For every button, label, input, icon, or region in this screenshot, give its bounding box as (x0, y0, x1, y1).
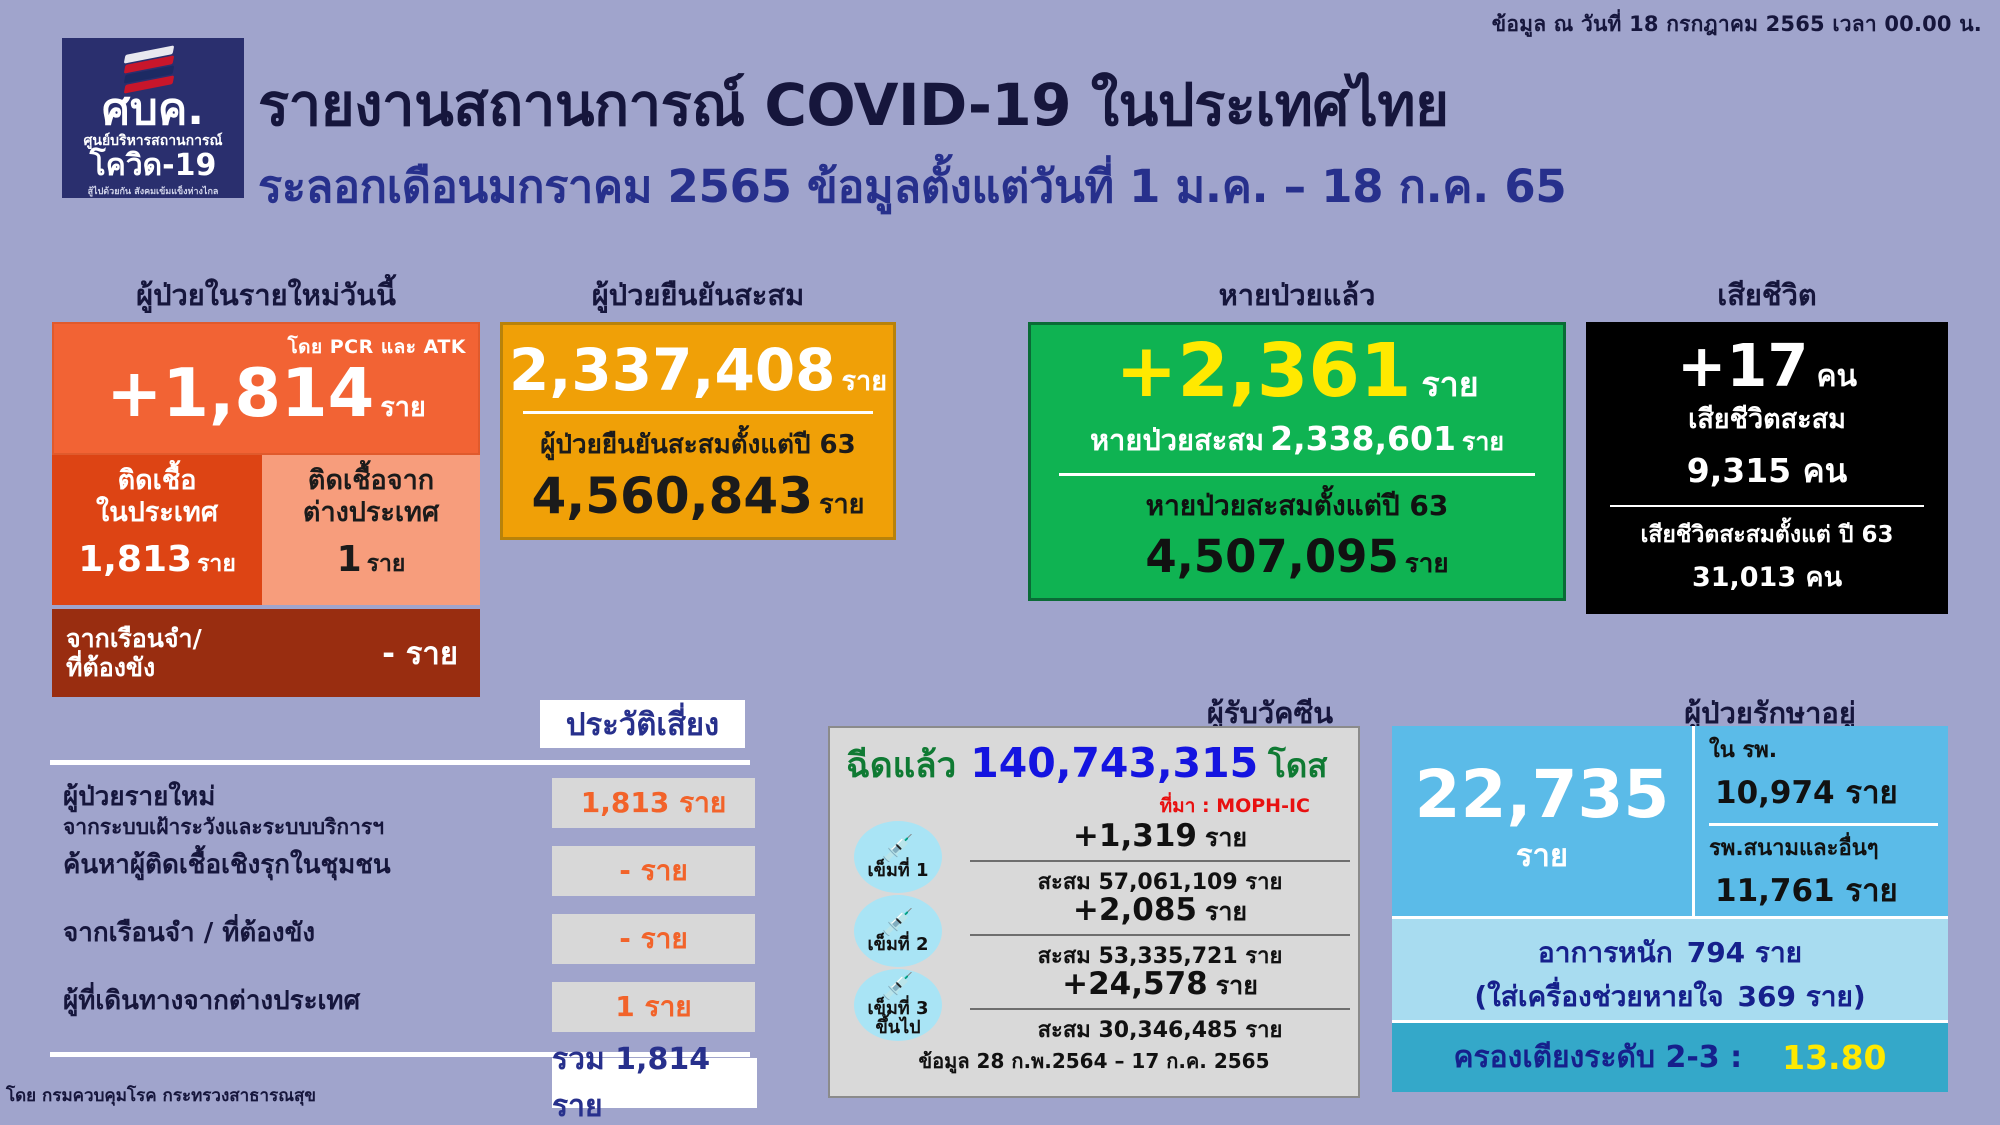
cdc-logo: ศบค. ศูนย์บริหารสถานการณ์ โควิด-19 สู้ไป… (62, 38, 244, 198)
vaccine-dose-2-divider (970, 934, 1350, 936)
risk-row-3-label-1: ผู้ที่เดินทางจากต่างประเทศ (63, 988, 360, 1015)
risk-history-total: รวม 1,814 ราย (552, 1058, 757, 1108)
vaccine-dose-1-new: +1,319 (1073, 818, 1197, 854)
page-title: รายงานสถานการณ์ COVID-19 ในประเทศไทย (258, 58, 1449, 151)
page-subtitle: ระลอกเดือนมกราคม 2565 ข้อมูลตั้งแต่วันที… (258, 150, 1566, 222)
risk-row-3-value: 1 ราย (552, 982, 755, 1032)
deaths-cumulative-value: 9,315 คน (1588, 440, 1946, 503)
treatment-bed-value: 13.80 (1782, 1038, 1886, 1077)
vaccine-dose-1-data: +1,319ราย สะสม 57,061,109 ราย (956, 818, 1358, 899)
risk-history-title: ประวัติเสี่ยง (540, 700, 745, 748)
footer-credit: โดย กรมควบคุมโรค กระทรวงสาธารณสุข (6, 1082, 316, 1109)
treatment-total-value: 22,735 (1415, 762, 1670, 828)
risk-history-top-divider (50, 760, 750, 765)
new-cases-split: ติดเชื้อ ในประเทศ 1,813ราย ติดเชื้อจาก ต… (52, 455, 480, 605)
vaccine-dose-3-new-unit: ราย (1216, 971, 1258, 1000)
risk-row-0-label-2: จากระบบเฝ้าระวังและระบบบริการฯ (63, 811, 384, 844)
syringe-icon: 💉 เข็มที่ 3 ขึ้นไป (840, 971, 956, 1041)
vaccine-dose-2-label: เข็มที่ 2 (868, 936, 929, 955)
risk-row-2-label: จากเรือนจำ / ที่ต้องขัง (63, 920, 315, 947)
treatment-severe-label: อาการหนัก (1538, 931, 1673, 975)
cumulative-since-unit: ราย (819, 489, 864, 520)
recovered-unit: ราย (1421, 365, 1478, 405)
vaccine-dose-2-data: +2,085ราย สะสม 53,335,721 ราย (956, 892, 1358, 973)
vaccine-dose-row-3: 💉 เข็มที่ 3 ขึ้นไป +24,578ราย สะสม 30,34… (830, 969, 1358, 1043)
logo-subtitle-2: โควิด-19 (90, 150, 217, 182)
deaths-value: +17 (1677, 331, 1809, 400)
vaccine-injected-word: ฉีดแล้ว (846, 738, 956, 793)
treatment-field-value: 11,761 ราย (1715, 865, 1938, 915)
syringe-icon-glyph: 💉 (882, 836, 914, 862)
risk-row-1-label: ค้นหาผู้ติดเชื้อเชิงรุกในชุมชน (63, 852, 391, 879)
recovered-cumulative-value: 2,338,601 (1270, 419, 1456, 458)
treatment-vent-value: 369 ราย) (1738, 975, 1866, 1019)
vaccine-card: ฉีดแล้ว 140,743,315 โดส ที่มา : MOPH-IC … (828, 726, 1360, 1098)
vaccine-head: ฉีดแล้ว 140,743,315 โดส (830, 728, 1358, 793)
treatment-vent-row: (ใส่เครื่องช่วยหายใจ 369 ราย) (1392, 975, 1948, 1019)
prison-cases-label-2: ที่ต้องขัง (66, 653, 202, 683)
treatment-card: 22,735 ราย ใน รพ. 10,974 ราย รพ.สนามและอ… (1392, 726, 1948, 1098)
risk-row-3: ผู้ที่เดินทางจากต่างประเทศ 1 ราย (55, 982, 755, 1040)
recovered-divider (1059, 473, 1535, 476)
prison-cases: จากเรือนจำ/ ที่ต้องขัง - ราย (52, 609, 480, 697)
treatment-severe-value: 794 ราย (1687, 931, 1802, 975)
domestic-cases-value: 1,813 (78, 539, 192, 580)
deaths-since-value: 31,013 คน (1588, 553, 1946, 612)
as-of-date: ข้อมูล ณ วันที่ 18 กรกฎาคม 2565 เวลา 00.… (1492, 8, 1982, 41)
imported-cases-unit: ราย (367, 551, 406, 577)
logo-subtitle-3: สู้ไปด้วยกัน สังคมเข้มแข็งห่างไกล (88, 184, 219, 198)
treatment-total-block: 22,735 ราย (1392, 726, 1692, 916)
treatment-severe-block: อาการหนัก 794 ราย (ใส่เครื่องช่วยหายใจ 3… (1392, 916, 1948, 1020)
syringe-icon: 💉 เข็มที่ 1 (840, 823, 956, 893)
treatment-hospital-value: 10,974 ราย (1715, 767, 1938, 817)
recovered-since-wrap: 4,507,095ราย (1031, 528, 1563, 598)
vaccine-dose-3-divider (970, 1008, 1350, 1010)
domestic-cases-label-2: ในประเทศ (52, 497, 262, 529)
treatment-severe-row: อาการหนัก 794 ราย (1392, 931, 1948, 975)
recovered-since-label: หายป่วยสะสมตั้งแต่ปี 63 (1031, 478, 1563, 528)
risk-row-2: จากเรือนจำ / ที่ต้องขัง - ราย (55, 914, 755, 972)
deaths-label: เสียชีวิต (1586, 272, 1948, 318)
treatment-bed-label: ครองเตียงระดับ 2-3 : (1453, 1034, 1742, 1081)
vaccine-dose-2-new-unit: ราย (1205, 897, 1247, 926)
treatment-top: 22,735 ราย ใน รพ. 10,974 ราย รพ.สนามและอ… (1392, 726, 1948, 916)
risk-row-1-value: - ราย (552, 846, 755, 896)
cumulative-since-label: ผู้ป่วยยืนยันสะสมตั้งแต่ปี 63 (503, 414, 893, 465)
domestic-cases-value-wrap: 1,813ราย (52, 539, 262, 582)
new-cases-card: โดย PCR และ ATK +1,814ราย ติดเชื้อ ในประ… (52, 322, 480, 697)
risk-row-0-value: 1,813 ราย (552, 778, 755, 828)
domestic-cases-label-1: ติดเชื้อ (52, 465, 262, 497)
syringe-icon: 💉 เข็มที่ 2 (840, 897, 956, 967)
vaccine-note: ข้อมูล 28 ก.พ.2564 – 17 ก.ค. 2565 (830, 1045, 1358, 1077)
vaccine-dose-3-label-2: ขึ้นไป (875, 1019, 920, 1038)
vaccine-dose-3-data: +24,578ราย สะสม 30,346,485 ราย (956, 966, 1358, 1047)
imported-cases: ติดเชื้อจาก ต่างประเทศ 1ราย (262, 455, 480, 605)
prison-cases-label-1: จากเรือนจำ/ (66, 624, 202, 654)
treatment-breakdown: ใน รพ. 10,974 ราย รพ.สนามและอื่นๆ 11,761… (1692, 726, 1948, 916)
vaccine-dose-2-new: +2,085 (1073, 892, 1197, 928)
vaccine-injected-value: 140,743,315 (970, 739, 1258, 787)
treatment-vent-label: (ใส่เครื่องช่วยหายใจ (1474, 975, 1723, 1019)
deaths-unit: คน (1816, 359, 1857, 394)
new-cases-hero: โดย PCR และ ATK +1,814ราย (52, 322, 480, 455)
deaths-cumulative-label: เสียชีวิตสะสม (1588, 395, 1946, 440)
risk-row-0: ผู้ป่วยรายใหม่ จากระบบเฝ้าระวังและระบบบร… (55, 778, 755, 836)
vaccine-source: ที่มา : MOPH-IC (830, 791, 1358, 821)
prison-cases-value: - ราย (382, 628, 458, 678)
treatment-breakdown-divider (1709, 823, 1938, 826)
cumulative-since-value: 4,560,843 (531, 467, 813, 525)
risk-row-0-label: ผู้ป่วยรายใหม่ จากระบบเฝ้าระวังและระบบบร… (63, 784, 384, 844)
new-cases-value: +1,814 (106, 354, 374, 432)
cumulative-card: 2,337,408ราย ผู้ป่วยยืนยันสะสมตั้งแต่ปี … (500, 322, 896, 540)
imported-cases-label-2: ต่างประเทศ (262, 497, 480, 529)
risk-row-0-label-1: ผู้ป่วยรายใหม่ (63, 784, 384, 811)
treatment-total-unit: ราย (1516, 830, 1568, 880)
logo-abbreviation: ศบค. (102, 88, 204, 132)
vaccine-dose-1-divider (970, 860, 1350, 862)
risk-row-1-label-1: ค้นหาผู้ติดเชื้อเชิงรุกในชุมชน (63, 852, 391, 879)
vaccine-dose-3-cumulative: สะสม 30,346,485 ราย (962, 1012, 1358, 1047)
imported-cases-value: 1 (337, 539, 362, 580)
vaccine-dose-row-1: 💉 เข็มที่ 1 +1,319ราย สะสม 57,061,109 รา… (830, 821, 1358, 895)
recovered-card: +2,361ราย หายป่วยสะสม2,338,601ราย หายป่ว… (1028, 322, 1566, 601)
risk-row-2-label-1: จากเรือนจำ / ที่ต้องขัง (63, 920, 315, 947)
recovered-cumulative-unit: ราย (1462, 427, 1504, 456)
vaccine-dose-2-new-wrap: +2,085ราย (962, 892, 1358, 932)
deaths-since-label: เสียชีวิตสะสมตั้งแต่ ปี 63 (1588, 509, 1946, 553)
vaccine-dose-1-new-unit: ราย (1205, 823, 1247, 852)
new-cases-value-wrap: +1,814ราย (54, 360, 478, 427)
recovered-cumulative-label: หายป่วยสะสม (1090, 423, 1264, 457)
treatment-bed-block: ครองเตียงระดับ 2-3 : 13.80 (1392, 1020, 1948, 1092)
risk-row-2-value: - ราย (552, 914, 755, 964)
risk-row-3-label: ผู้ที่เดินทางจากต่างประเทศ (63, 988, 360, 1015)
vaccine-dose-word: โดส (1268, 739, 1327, 792)
risk-row-1: ค้นหาผู้ติดเชื้อเชิงรุกในชุมชน - ราย (55, 846, 755, 904)
recovered-since-unit: ราย (1405, 549, 1449, 579)
thai-flag-icon (126, 46, 180, 86)
new-cases-label: ผู้ป่วยในรายใหม่วันนี้ (52, 272, 480, 318)
recovered-label: หายป่วยแล้ว (1028, 272, 1566, 318)
recovered-value-wrap: +2,361ราย (1031, 325, 1563, 411)
recovered-since-value: 4,507,095 (1145, 530, 1398, 583)
cumulative-since-wrap: 4,560,843ราย (503, 465, 893, 537)
syringe-icon-glyph: 💉 (882, 910, 914, 936)
imported-cases-value-wrap: 1ราย (262, 539, 480, 582)
recovered-cumulative-row: หายป่วยสะสม2,338,601ราย (1031, 411, 1563, 471)
vaccine-dose-3-new: +24,578 (1062, 966, 1208, 1002)
deaths-value-wrap: +17คน (1588, 324, 1946, 395)
new-cases-unit: ราย (380, 392, 425, 423)
cumulative-value: 2,337,408 (509, 336, 836, 404)
vaccine-dose-row-2: 💉 เข็มที่ 2 +2,085ราย สะสม 53,335,721 รา… (830, 895, 1358, 969)
recovered-value: +2,361 (1115, 328, 1411, 414)
cumulative-label: ผู้ป่วยยืนยันสะสม (500, 272, 896, 318)
deaths-divider (1610, 505, 1924, 507)
domestic-cases-unit: ราย (197, 551, 236, 577)
vaccine-dose-3-new-wrap: +24,578ราย (962, 966, 1358, 1006)
syringe-icon-glyph: 💉 (882, 974, 914, 1000)
prison-cases-label: จากเรือนจำ/ ที่ต้องขัง (66, 624, 202, 683)
imported-cases-label-1: ติดเชื้อจาก (262, 465, 480, 497)
vaccine-dose-1-label: เข็มที่ 1 (868, 862, 929, 881)
vaccine-dose-1-new-wrap: +1,319ราย (962, 818, 1358, 858)
deaths-card: +17คน เสียชีวิตสะสม 9,315 คน เสียชีวิตสะ… (1586, 322, 1948, 614)
cumulative-value-wrap: 2,337,408ราย (503, 325, 893, 407)
cumulative-unit: ราย (842, 366, 887, 397)
domestic-cases: ติดเชื้อ ในประเทศ 1,813ราย (52, 455, 262, 605)
treatment-hospital-label: ใน รพ. (1709, 732, 1938, 767)
treatment-field-label: รพ.สนามและอื่นๆ (1709, 830, 1938, 865)
